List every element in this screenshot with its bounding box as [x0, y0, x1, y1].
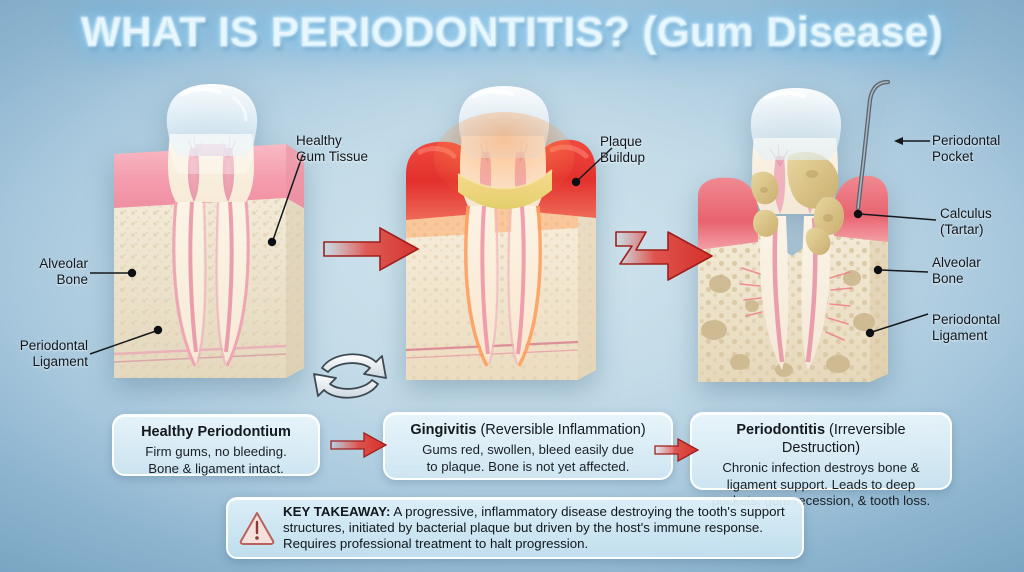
stage-caption-2[interactable]: Gingivitis (Reversible Inflammation) Gum…	[383, 412, 673, 480]
progression-arrow-2-to-3-zigzag	[612, 206, 720, 288]
stage-2-title: Gingivitis	[410, 422, 476, 438]
label-calculus-tartar: Calculus (Tartar)	[940, 206, 992, 237]
caption-arrow-1-to-2	[330, 430, 392, 460]
stage-caption-3[interactable]: Periodontitis (Irreversible Destruction)…	[690, 412, 952, 490]
caption-arrow-2-to-3	[654, 436, 702, 464]
infographic-canvas: WHAT IS PERIODONTITIS? (Gum Disease)	[0, 0, 1024, 572]
tooth-diagram-periodontitis	[692, 78, 902, 388]
tooth-diagram-healthy	[108, 78, 318, 388]
progression-arrow-1-to-2	[322, 218, 426, 280]
stage-2-body: Gums red, swollen, bleed easily due to p…	[395, 442, 661, 475]
stage-caption-1[interactable]: Healthy Periodontium Firm gums, no bleed…	[112, 414, 320, 476]
label-plaque-buildup: Plaque Buildup	[600, 134, 645, 165]
stage-2-qualifier: (Reversible Inflammation)	[480, 422, 645, 438]
key-takeaway-box[interactable]: KEY TAKEAWAY: A progressive, inflammator…	[226, 497, 804, 559]
key-takeaway-text: KEY TAKEAWAY: A progressive, inflammator…	[283, 504, 790, 553]
stage-2-heading: Gingivitis (Reversible Inflammation)	[395, 421, 661, 439]
label-periodontal-ligament-right: Periodontal Ligament	[932, 312, 1000, 343]
page-title: WHAT IS PERIODONTITIS? (Gum Disease)	[0, 8, 1024, 56]
reversible-arrows-icon	[306, 342, 394, 408]
label-healthy-gum-tissue: Healthy Gum Tissue	[296, 133, 368, 164]
stage-3-heading: Periodontitis (Irreversible Destruction)	[702, 421, 940, 457]
stage-1-title: Healthy Periodontium	[141, 424, 291, 440]
tooth-diagram-gingivitis	[400, 78, 610, 388]
stage-1-heading: Healthy Periodontium	[124, 423, 308, 441]
key-takeaway-heading: KEY TAKEAWAY:	[283, 504, 390, 519]
label-alveolar-bone-right: Alveolar Bone	[932, 255, 981, 286]
stage-1-body: Firm gums, no bleeding. Bone & ligament …	[124, 444, 308, 477]
label-periodontal-ligament-left: Periodontal Ligament	[14, 338, 88, 369]
warning-triangle-icon	[238, 509, 276, 547]
stage-3-title: Periodontitis	[736, 422, 825, 438]
label-periodontal-pocket: Periodontal Pocket	[932, 133, 1000, 164]
label-alveolar-bone-left: Alveolar Bone	[32, 256, 88, 287]
